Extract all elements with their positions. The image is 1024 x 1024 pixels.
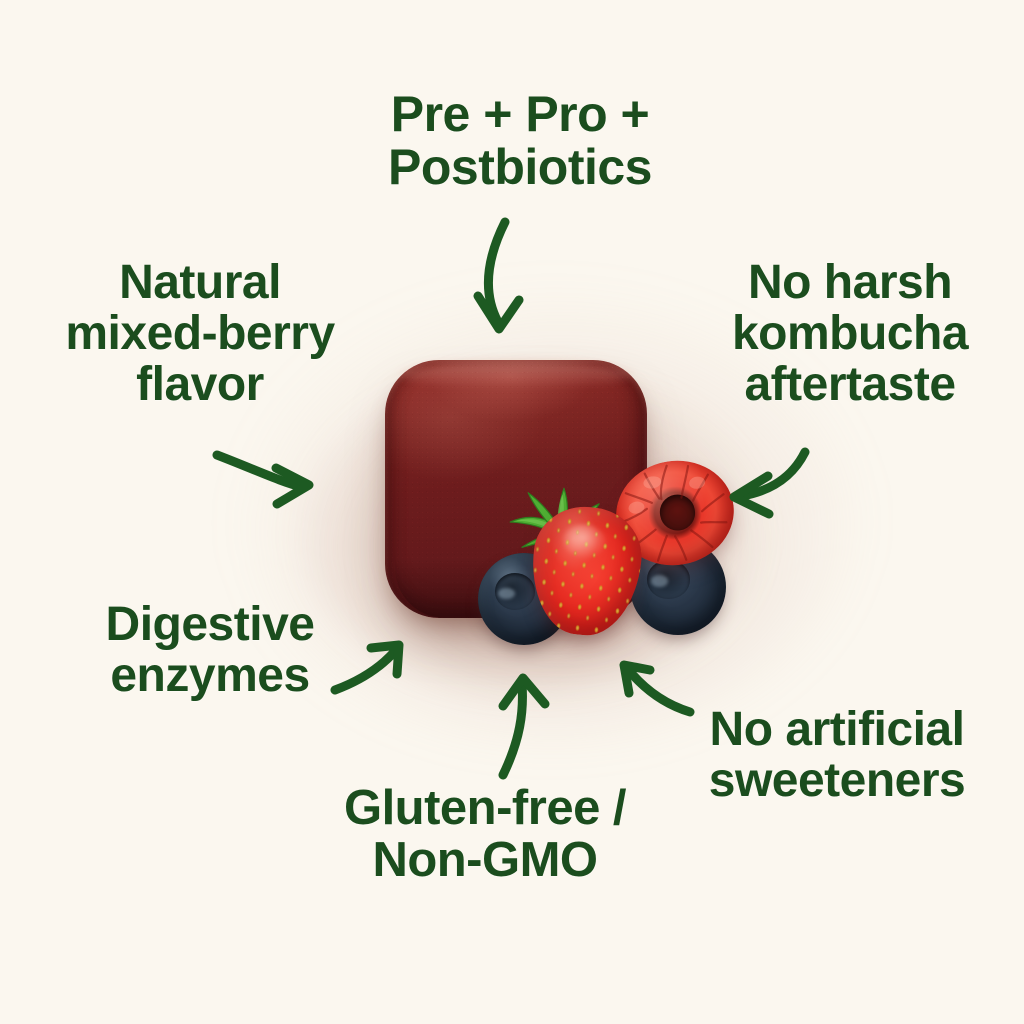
arrow-natural-flavor	[217, 455, 309, 504]
berry-cluster	[470, 455, 730, 685]
callout-label-gluten-free-non-gmo: Gluten-free / Non-GMO	[320, 783, 650, 887]
arrow-no-kombucha-aftertaste	[734, 452, 805, 514]
arrow-gluten-free-non-gmo	[503, 678, 545, 775]
infographic-canvas: Pre + Pro + Postbiotics Natural mixed-be…	[0, 0, 1024, 1024]
arrow-pre-pro-postbiotics	[478, 222, 519, 329]
blueberry-highlight	[498, 588, 515, 599]
callout-label-no-artificial-sweeteners: No artificial sweeteners	[682, 705, 992, 807]
callout-label-no-kombucha-aftertaste: No harsh kombucha aftertaste	[690, 258, 1010, 411]
callout-label-digestive-enzymes: Digestive enzymes	[60, 600, 360, 702]
callout-label-natural-flavor: Natural mixed-berry flavor	[30, 258, 370, 411]
callout-label-pre-pro-postbiotics: Pre + Pro + Postbiotics	[340, 88, 700, 194]
